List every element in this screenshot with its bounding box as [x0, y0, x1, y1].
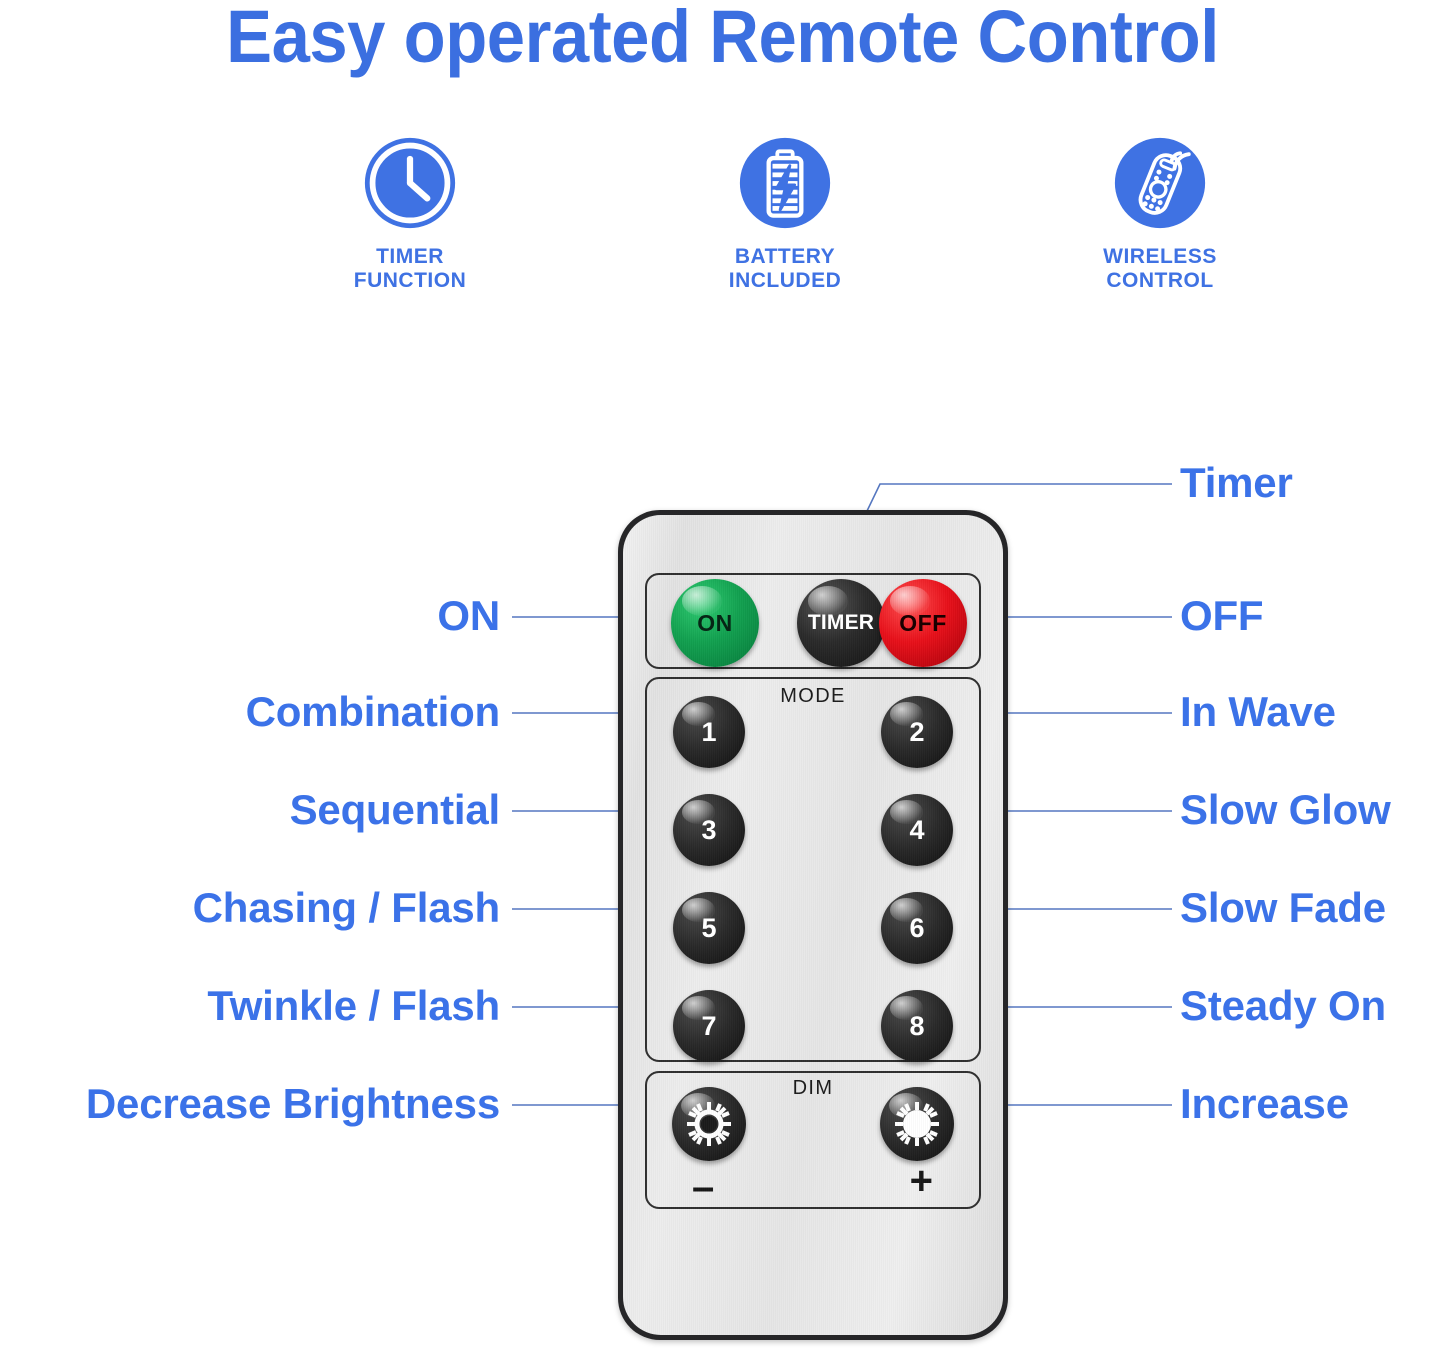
- callout-combination: Combination: [246, 688, 500, 736]
- callout-increase: Increase: [1180, 1080, 1349, 1128]
- mode-button-label: 5: [701, 913, 716, 944]
- remote-body: ON TIMER OFF MODE 1 2: [623, 515, 1003, 1335]
- feature-icon-row: TIMER FUNCTION BATTERY INCLUDED: [280, 135, 1290, 315]
- mode-button-8[interactable]: 8: [881, 990, 953, 1062]
- mode-button-label: 6: [909, 913, 924, 944]
- remote-wireless-icon: [1112, 135, 1208, 231]
- mode-button-label: 7: [701, 1011, 716, 1042]
- callout-timer: Timer: [1180, 459, 1293, 507]
- brightness-high-icon: [891, 1098, 943, 1150]
- mode-button-4[interactable]: 4: [881, 794, 953, 866]
- battery-icon: [737, 135, 833, 231]
- remote-control: ON TIMER OFF MODE 1 2: [618, 510, 1008, 1340]
- callout-sequential: Sequential: [290, 786, 500, 834]
- off-button[interactable]: OFF: [879, 579, 967, 667]
- off-button-label: OFF: [899, 610, 947, 637]
- mode-button-5[interactable]: 5: [673, 892, 745, 964]
- callout-slow-fade: Slow Fade: [1180, 884, 1386, 932]
- callout-chasing-flash: Chasing / Flash: [193, 884, 500, 932]
- clock-icon: [362, 135, 458, 231]
- callout-on: ON: [437, 592, 500, 640]
- feature-label: WIRELESS CONTROL: [1103, 245, 1217, 292]
- increase-symbol: +: [910, 1161, 933, 1201]
- dim-button-panel: DIM: [645, 1071, 981, 1209]
- mode-button-2[interactable]: 2: [881, 696, 953, 768]
- callout-twinkle-flash: Twinkle / Flash: [207, 982, 500, 1030]
- timer-button-label: TIMER: [808, 611, 874, 635]
- callout-slow-glow: Slow Glow: [1180, 786, 1391, 834]
- mode-button-label: 3: [701, 815, 716, 846]
- on-button-label: ON: [697, 610, 733, 637]
- callout-in-wave: In Wave: [1180, 688, 1336, 736]
- mode-button-label: 2: [909, 717, 924, 748]
- timer-button[interactable]: TIMER: [797, 579, 885, 667]
- callout-steady-on: Steady On: [1180, 982, 1386, 1030]
- mode-button-label: 4: [909, 815, 924, 846]
- callout-decrease-brightness: Decrease Brightness: [86, 1080, 500, 1128]
- mode-button-1[interactable]: 1: [673, 696, 745, 768]
- power-button-panel: ON TIMER OFF: [645, 573, 981, 669]
- mode-button-7[interactable]: 7: [673, 990, 745, 1062]
- callout-off: OFF: [1180, 592, 1263, 640]
- on-button[interactable]: ON: [671, 579, 759, 667]
- decrease-symbol: –: [692, 1167, 714, 1207]
- mode-button-label: 1: [701, 717, 716, 748]
- mode-button-3[interactable]: 3: [673, 794, 745, 866]
- feature-label: TIMER FUNCTION: [354, 245, 467, 292]
- mode-button-6[interactable]: 6: [881, 892, 953, 964]
- increase-brightness-button[interactable]: [880, 1087, 954, 1161]
- mode-button-panel: MODE 1 2 3 4 5 6: [645, 677, 981, 1062]
- brightness-low-icon: [683, 1098, 735, 1150]
- mode-button-label: 8: [909, 1011, 924, 1042]
- feature-label: BATTERY INCLUDED: [729, 245, 842, 292]
- feature-battery-included: BATTERY INCLUDED: [655, 135, 915, 292]
- feature-wireless-control: WIRELESS CONTROL: [1030, 135, 1290, 292]
- decrease-brightness-button[interactable]: [672, 1087, 746, 1161]
- feature-timer-function: TIMER FUNCTION: [280, 135, 540, 292]
- page-title: Easy operated Remote Control: [51, 0, 1395, 79]
